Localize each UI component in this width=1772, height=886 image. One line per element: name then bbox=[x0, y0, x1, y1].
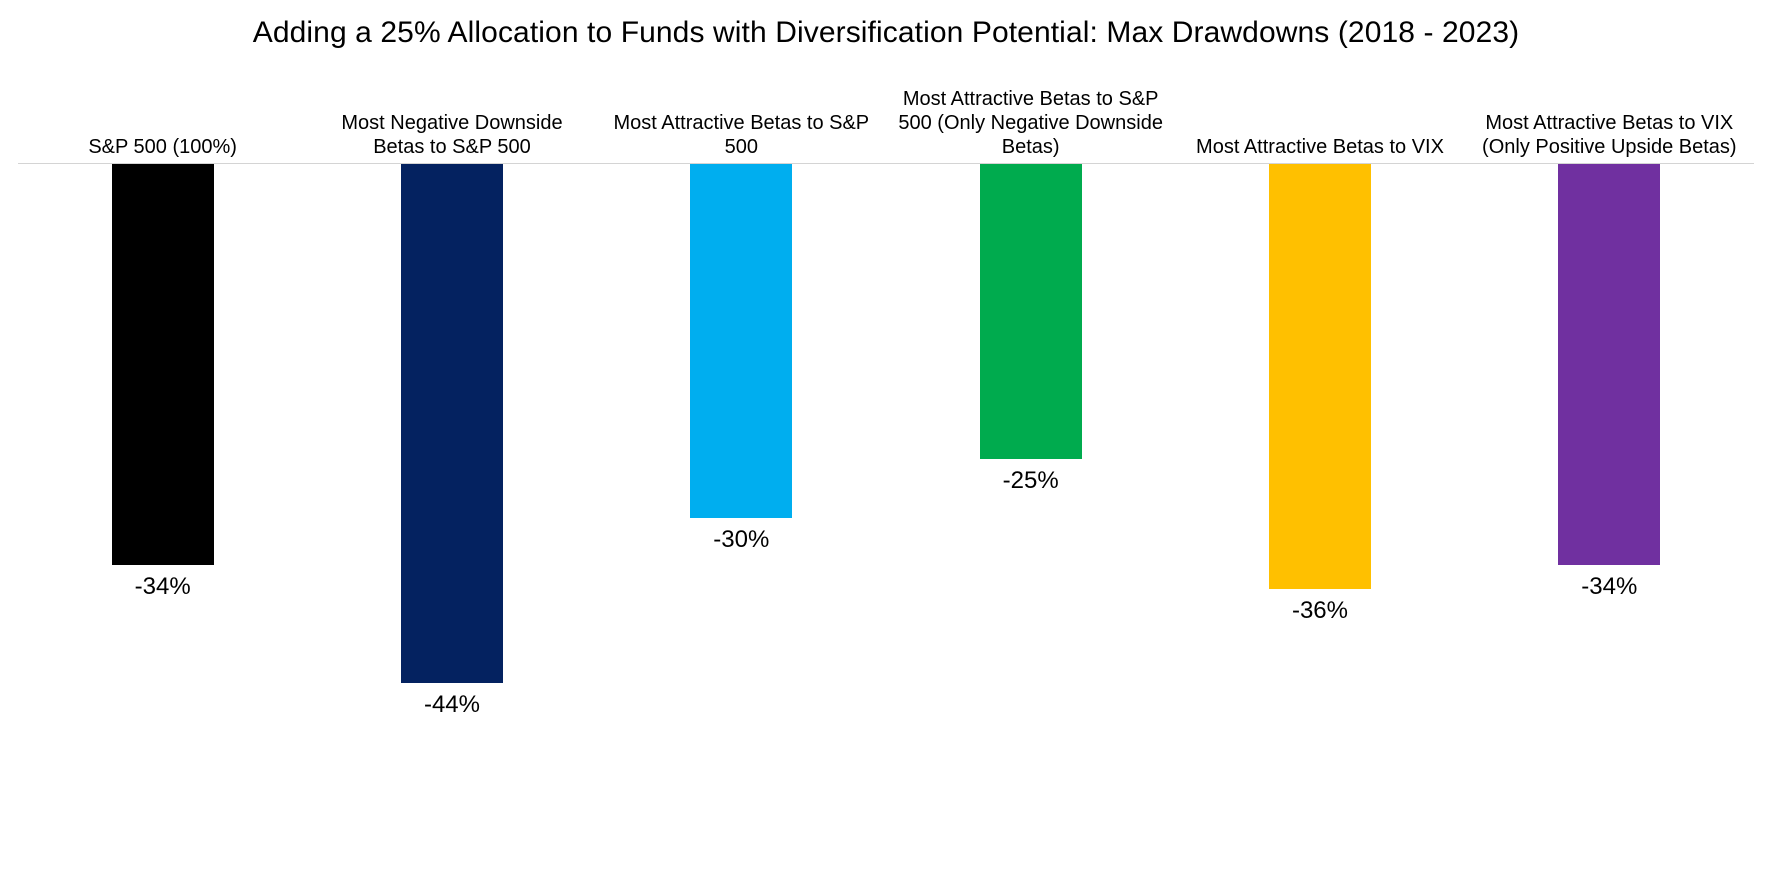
bar-value-label-most-attractive-betas-sp500: -30% bbox=[713, 526, 769, 554]
bar-most-attractive-betas-sp500[interactable] bbox=[690, 164, 792, 518]
category-label-line: (Only Positive Upside Betas) bbox=[1465, 135, 1754, 159]
bar-column: -30% bbox=[597, 164, 886, 554]
bar-value-label-sp500-100: -34% bbox=[135, 573, 191, 601]
bar-most-attractive-betas-sp500-only-negative-downside[interactable] bbox=[980, 164, 1082, 459]
category-label-line: 500 (Only Negative Downside bbox=[886, 111, 1175, 135]
bar-value-label-most-attractive-betas-vix: -36% bbox=[1292, 597, 1348, 625]
bar-column: -34% bbox=[18, 164, 307, 601]
category-label-most-attractive-betas-sp500: Most Attractive Betas to S&P500 bbox=[597, 111, 886, 163]
bar-group-most-attractive-betas-sp500-only-negative-downside: Most Attractive Betas to S&P500 (Only Ne… bbox=[886, 163, 1175, 863]
bar-group-most-negative-downside-betas-sp500: Most Negative DownsideBetas to S&P 500-4… bbox=[307, 163, 596, 863]
bar-column: -34% bbox=[1465, 164, 1754, 601]
category-label-most-attractive-betas-sp500-only-negative-downside: Most Attractive Betas to S&P500 (Only Ne… bbox=[886, 87, 1175, 163]
category-label-line: 500 bbox=[597, 135, 886, 159]
bar-group-most-attractive-betas-sp500: Most Attractive Betas to S&P500-30% bbox=[597, 163, 886, 863]
category-label-line: Betas to S&P 500 bbox=[307, 135, 596, 159]
bar-column: -36% bbox=[1175, 164, 1464, 625]
category-label-line: S&P 500 (100%) bbox=[18, 135, 307, 159]
bar-most-attractive-betas-vix-only-positive-upside[interactable] bbox=[1558, 164, 1660, 565]
bar-column: -44% bbox=[307, 164, 596, 719]
bar-value-label-most-attractive-betas-sp500-only-negative-downside: -25% bbox=[1003, 467, 1059, 495]
bar-column: -25% bbox=[886, 164, 1175, 495]
bar-sp500-100[interactable] bbox=[112, 164, 214, 565]
bar-value-label-most-negative-downside-betas-sp500: -44% bbox=[424, 691, 480, 719]
plot-area: S&P 500 (100%)-34%Most Negative Downside… bbox=[18, 163, 1754, 863]
bar-most-negative-downside-betas-sp500[interactable] bbox=[401, 164, 503, 683]
bar-most-attractive-betas-vix[interactable] bbox=[1269, 164, 1371, 589]
bar-group-sp500-100: S&P 500 (100%)-34% bbox=[18, 163, 307, 863]
bar-value-label-most-attractive-betas-vix-only-positive-upside: -34% bbox=[1581, 573, 1637, 601]
bar-group-most-attractive-betas-vix: Most Attractive Betas to VIX-36% bbox=[1175, 163, 1464, 863]
category-label-most-negative-downside-betas-sp500: Most Negative DownsideBetas to S&P 500 bbox=[307, 111, 596, 163]
bar-group-most-attractive-betas-vix-only-positive-upside: Most Attractive Betas to VIX(Only Positi… bbox=[1465, 163, 1754, 863]
category-label-sp500-100: S&P 500 (100%) bbox=[18, 135, 307, 163]
category-label-line: Most Attractive Betas to VIX bbox=[1465, 111, 1754, 135]
category-label-line: Most Negative Downside bbox=[307, 111, 596, 135]
category-label-line: Most Attractive Betas to VIX bbox=[1175, 135, 1464, 159]
chart-container: Adding a 25% Allocation to Funds with Di… bbox=[0, 0, 1772, 886]
category-label-line: Betas) bbox=[886, 135, 1175, 159]
category-label-line: Most Attractive Betas to S&P bbox=[886, 87, 1175, 111]
chart-title: Adding a 25% Allocation to Funds with Di… bbox=[0, 14, 1772, 52]
category-label-line: Most Attractive Betas to S&P bbox=[597, 111, 886, 135]
category-label-most-attractive-betas-vix: Most Attractive Betas to VIX bbox=[1175, 135, 1464, 163]
category-label-most-attractive-betas-vix-only-positive-upside: Most Attractive Betas to VIX(Only Positi… bbox=[1465, 111, 1754, 163]
